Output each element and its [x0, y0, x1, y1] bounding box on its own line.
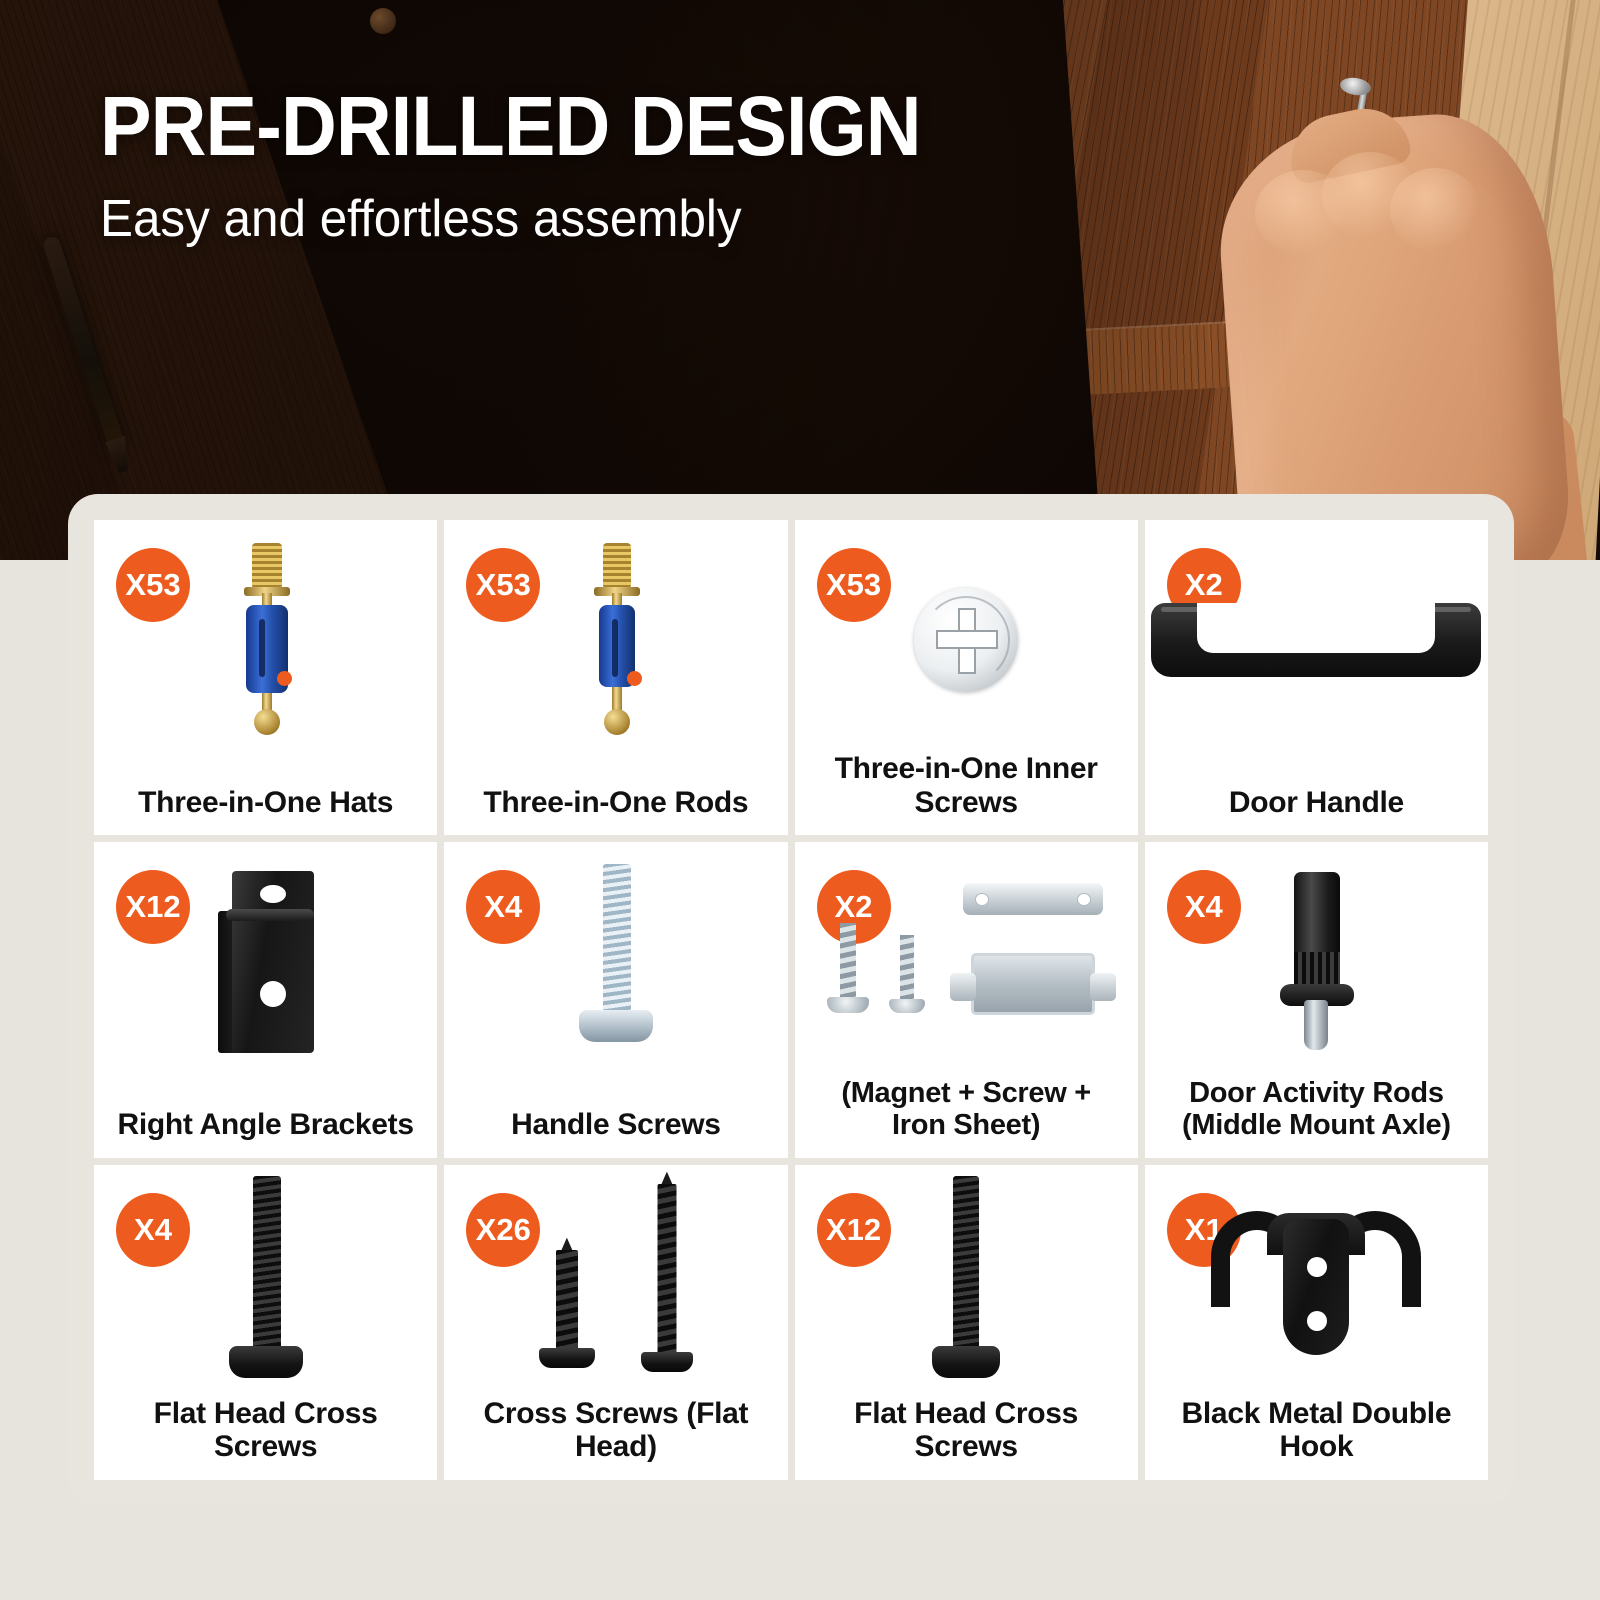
- part-label: Flat Head Cross Screws: [811, 1397, 1121, 1464]
- door-handle-icon: [1145, 534, 1488, 746]
- black-machine-screw-icon: [94, 1179, 437, 1391]
- cam-rod-icon: [444, 534, 787, 746]
- cam-bolt-icon: [94, 534, 437, 746]
- part-cell-handle-screws[interactable]: X4 Handle Screws: [444, 842, 787, 1157]
- part-label: Three-in-One Inner Screws: [811, 752, 1121, 819]
- part-label: Black Metal Double Hook: [1161, 1397, 1471, 1464]
- black-long-screw-icon: [795, 1179, 1138, 1391]
- parts-list-card: X53 Three-in-One Hats X53: [68, 494, 1514, 1506]
- part-label: Door Activity Rods (Middle Mount Axle): [1161, 1077, 1471, 1142]
- part-cell-three-in-one-hats[interactable]: X53 Three-in-One Hats: [94, 520, 437, 835]
- part-label: Door Handle: [1229, 786, 1404, 820]
- part-label: Three-in-One Hats: [138, 786, 393, 820]
- magnet-catch-icon: [795, 856, 1138, 1068]
- part-cell-door-activity-rods[interactable]: X4 Door Activity Rods (Middle Mount Axle…: [1145, 842, 1488, 1157]
- part-cell-three-in-one-rods[interactable]: X53 Three-in-One Rods: [444, 520, 787, 835]
- machine-screw-icon: [444, 856, 787, 1068]
- hero-text-block: PRE-DRILLED DESIGN Easy and effortless a…: [100, 86, 992, 249]
- part-cell-magnet-set[interactable]: X2 (Magnet + Screw + Iron Sheet): [795, 842, 1138, 1157]
- part-cell-flat-head-cross-screws-12[interactable]: X12 Flat Head Cross Screws: [795, 1165, 1138, 1480]
- cam-lock-disc-icon: [795, 534, 1138, 746]
- part-cell-flat-head-cross-screws-4[interactable]: X4 Flat Head Cross Screws: [94, 1165, 437, 1480]
- part-label: Handle Screws: [511, 1108, 721, 1142]
- part-label: Three-in-One Rods: [483, 786, 748, 820]
- knuckle-3: [1390, 168, 1480, 252]
- part-label: Flat Head Cross Screws: [110, 1397, 420, 1464]
- part-label: Right Angle Brackets: [117, 1108, 413, 1142]
- parts-grid: X53 Three-in-One Hats X53: [94, 520, 1488, 1480]
- part-cell-door-handle[interactable]: X2 Door Handle: [1145, 520, 1488, 835]
- angle-bracket-icon: [94, 856, 437, 1068]
- page-subtitle: Easy and effortless assembly: [100, 189, 947, 249]
- door-axle-icon: [1145, 856, 1488, 1068]
- infographic-stage: PRE-DRILLED DESIGN Easy and effortless a…: [0, 0, 1600, 1600]
- double-hook-icon: [1145, 1179, 1488, 1391]
- part-cell-cross-screws-flat-head[interactable]: X26 Cross: [444, 1165, 787, 1480]
- wood-screw-pair-icon: [444, 1179, 787, 1391]
- page-title: PRE-DRILLED DESIGN: [100, 86, 921, 167]
- part-cell-three-in-one-inner-screws[interactable]: X53 Three-in-One Inner Screws: [795, 520, 1138, 835]
- panel-screw-head: [370, 8, 396, 34]
- part-label: (Magnet + Screw + Iron Sheet): [811, 1077, 1121, 1142]
- part-cell-right-angle-brackets[interactable]: X12 Right Angle Brackets: [94, 842, 437, 1157]
- part-cell-black-metal-double-hook[interactable]: X1 Black Metal Double Hook: [1145, 1165, 1488, 1480]
- part-label: Cross Screws (Flat Head): [461, 1397, 771, 1464]
